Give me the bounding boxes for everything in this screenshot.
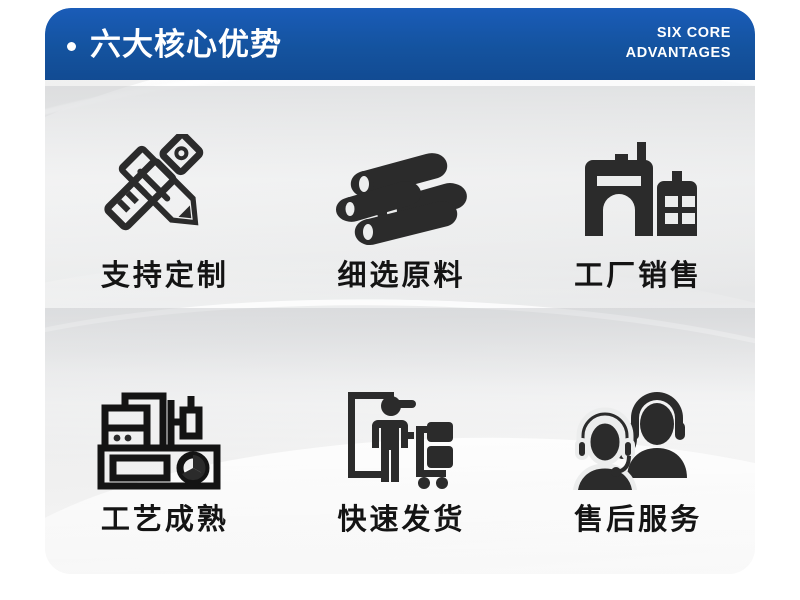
feature-item-factory-sales: 工厂销售: [518, 86, 755, 330]
header-subtitle-line2: ADVANTAGES: [626, 44, 731, 64]
feature-item-after-sales: 售后服务: [518, 330, 755, 574]
feature-item-custom-support: 支持定制: [45, 86, 282, 330]
factory-icon: [573, 126, 701, 246]
machine-icon: [97, 370, 229, 490]
headset-agents-icon: [569, 370, 705, 490]
header-subtitle: SIX CORE ADVANTAGES: [626, 24, 731, 63]
pencil-ruler-icon: [99, 126, 227, 246]
feature-label: 工厂销售: [571, 262, 702, 291]
delivery-worker-icon: [338, 370, 462, 490]
page-title: 六大核心优势: [90, 29, 282, 60]
feature-label: 支持定制: [98, 262, 229, 291]
header-subtitle-line1: SIX CORE: [626, 24, 731, 44]
feature-label: 快速发货: [334, 506, 465, 535]
feature-card: 六大核心优势 SIX CORE ADVANTAGES: [45, 8, 755, 574]
feature-label: 售后服务: [571, 506, 702, 535]
pipes-icon: [330, 126, 470, 246]
feature-label: 工艺成熟: [98, 506, 229, 535]
feature-grid: 支持定制: [45, 86, 755, 574]
header-banner: 六大核心优势 SIX CORE ADVANTAGES: [45, 8, 755, 80]
feature-item-fast-shipping: 快速发货: [282, 330, 519, 574]
poster-canvas: 六大核心优势 SIX CORE ADVANTAGES: [0, 0, 800, 600]
header-left-group: 六大核心优势: [67, 29, 282, 60]
feature-label: 细选原料: [334, 262, 465, 291]
feature-item-mature-process: 工艺成熟: [45, 330, 282, 574]
bullet-dot-icon: [67, 42, 76, 51]
feature-item-select-material: 细选原料: [282, 86, 519, 330]
